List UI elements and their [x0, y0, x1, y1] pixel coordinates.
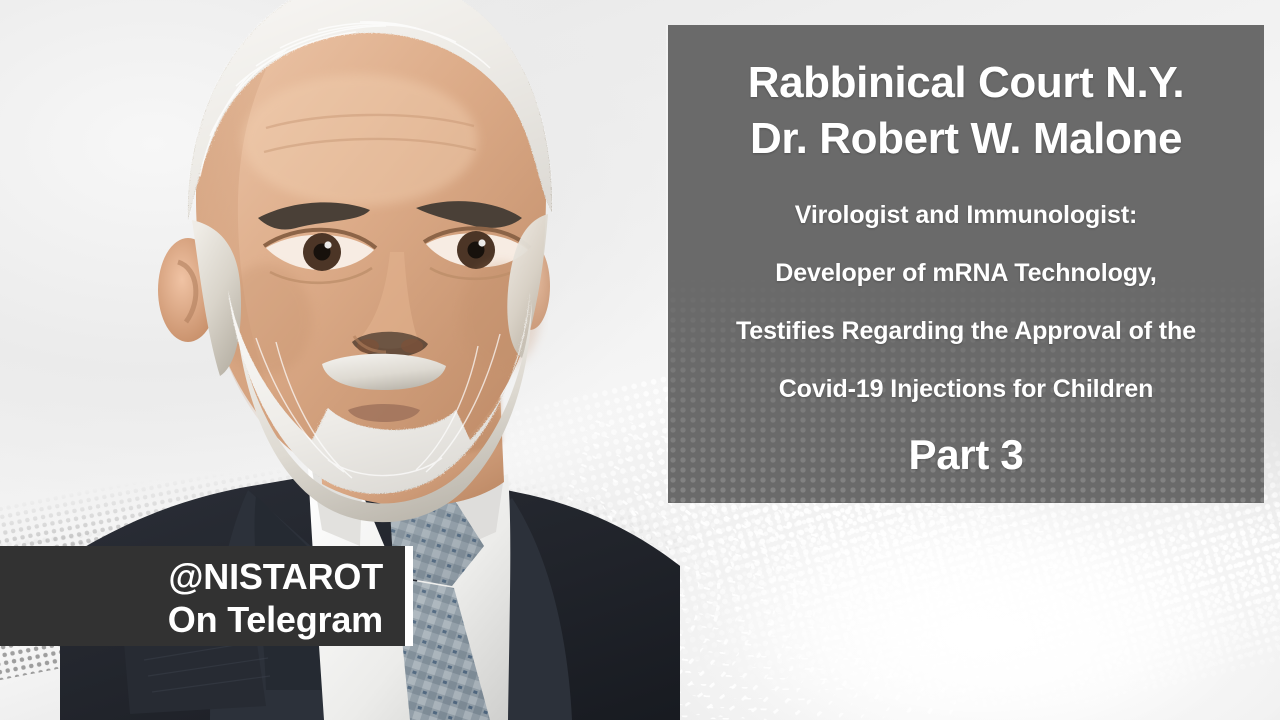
telegram-platform: On Telegram [0, 598, 383, 641]
headline-line-2: Dr. Robert W. Malone [680, 111, 1252, 167]
badge-accent-bar [405, 546, 413, 646]
info-panel: Rabbinical Court N.Y. Dr. Robert W. Malo… [668, 25, 1264, 503]
telegram-handle: @NISTAROT [0, 555, 383, 598]
subtitle-line-1: Virologist and Immunologist: [680, 201, 1252, 229]
thumbnail-canvas: Rabbinical Court N.Y. Dr. Robert W. Malo… [0, 0, 1280, 720]
telegram-badge: @NISTAROT On Telegram [0, 546, 405, 646]
headline-line-1: Rabbinical Court N.Y. [680, 55, 1252, 111]
part-label: Part 3 [680, 431, 1252, 479]
info-panel-content: Rabbinical Court N.Y. Dr. Robert W. Malo… [680, 43, 1252, 479]
subtitle-line-4: Covid-19 Injections for Children [680, 375, 1252, 403]
subtitle-line-3: Testifies Regarding the Approval of the [680, 317, 1252, 345]
subtitle-line-2: Developer of mRNA Technology, [680, 259, 1252, 287]
